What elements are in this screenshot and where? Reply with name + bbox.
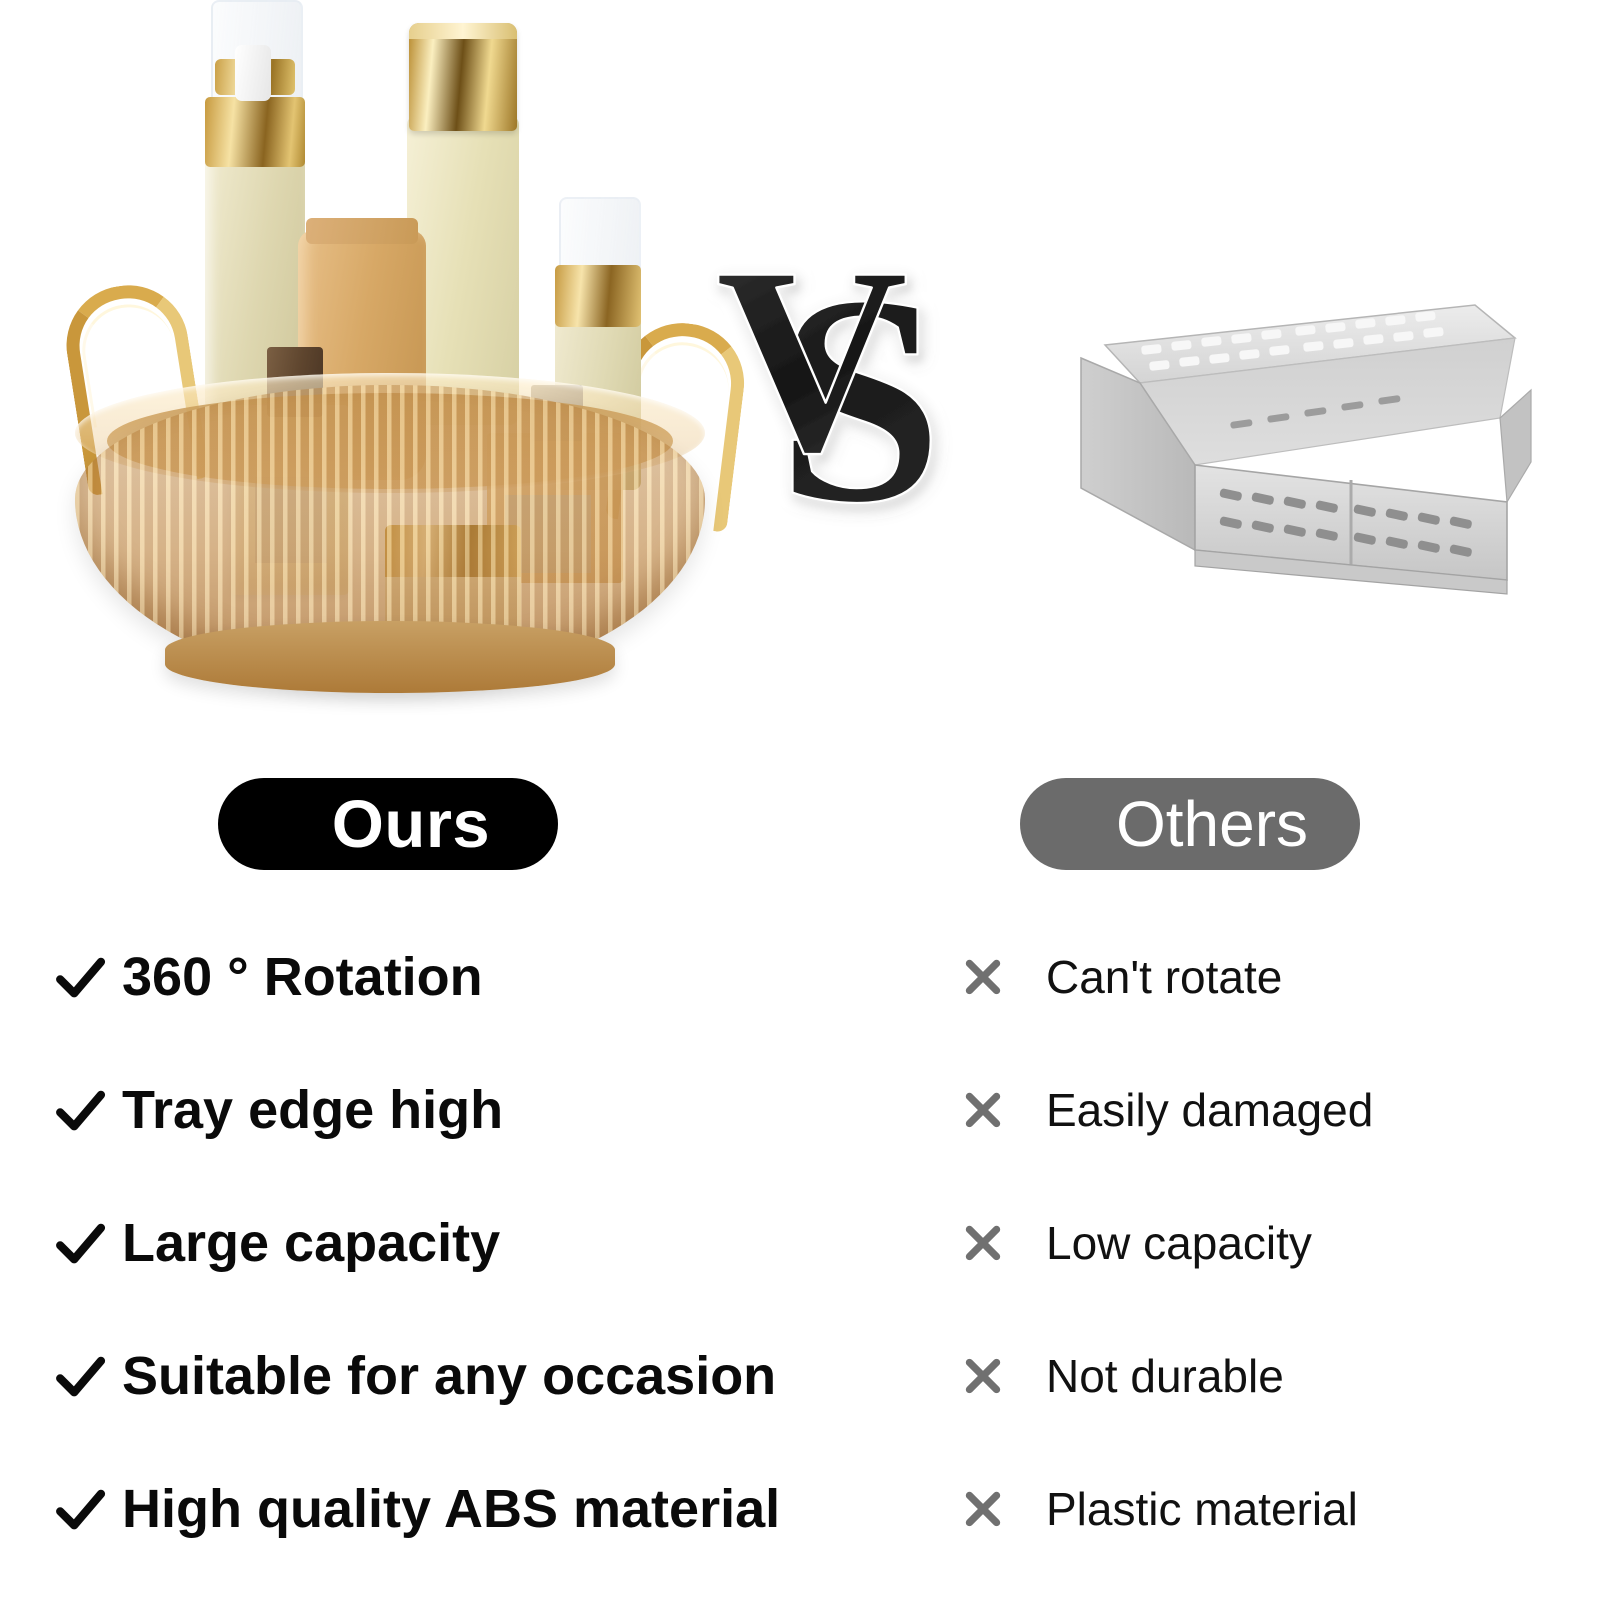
feature-label: 360 ° Rotation bbox=[122, 946, 483, 1008]
drawback-label: Low capacity bbox=[1046, 1216, 1312, 1270]
check-icon bbox=[52, 1481, 108, 1537]
svg-text:V: V bbox=[715, 218, 909, 508]
cross-icon bbox=[958, 1085, 1008, 1135]
feature-list-ours: 360 ° Rotation Tray edge high Large capa… bbox=[0, 910, 900, 1575]
cross-icon bbox=[958, 1351, 1008, 1401]
list-item: 360 ° Rotation bbox=[0, 910, 900, 1043]
white-pump-icon bbox=[235, 45, 271, 101]
versus-badge: S V bbox=[700, 218, 1000, 548]
feature-label: Large capacity bbox=[122, 1212, 500, 1274]
badge-others-label: Others bbox=[1116, 787, 1308, 861]
comparison-section: Ours Others 360 ° Rotation bbox=[0, 760, 1601, 1601]
cross-icon bbox=[958, 1218, 1008, 1268]
feature-label: High quality ABS material bbox=[122, 1478, 780, 1540]
product-image-others bbox=[1045, 250, 1545, 610]
cross-icon bbox=[958, 1484, 1008, 1534]
list-item: Easily damaged bbox=[930, 1043, 1590, 1176]
feature-label: Tray edge high bbox=[122, 1079, 503, 1141]
cross-icon bbox=[958, 952, 1008, 1002]
check-icon bbox=[52, 949, 108, 1005]
gold-cap-icon bbox=[409, 23, 517, 131]
list-item: Tray edge high bbox=[0, 1043, 900, 1176]
list-item: Plastic material bbox=[930, 1442, 1590, 1575]
feature-list-others: Can't rotate Easily damaged Low capacity bbox=[930, 910, 1590, 1575]
check-icon bbox=[52, 1215, 108, 1271]
list-item: Not durable bbox=[930, 1309, 1590, 1442]
check-icon bbox=[52, 1082, 108, 1138]
list-item: Low capacity bbox=[930, 1176, 1590, 1309]
feature-label: Suitable for any occasion bbox=[122, 1345, 776, 1407]
gold-collar-icon bbox=[205, 97, 305, 167]
list-item: Large capacity bbox=[0, 1176, 900, 1309]
list-item: High quality ABS material bbox=[0, 1442, 900, 1575]
gold-collar-small-icon bbox=[555, 265, 641, 327]
drawback-label: Plastic material bbox=[1046, 1482, 1358, 1536]
tray-base bbox=[165, 621, 615, 693]
check-icon bbox=[52, 1348, 108, 1404]
drawback-label: Can't rotate bbox=[1046, 950, 1282, 1004]
product-image-ours bbox=[55, 55, 725, 685]
list-item: Can't rotate bbox=[930, 910, 1590, 1043]
hero-images: S V bbox=[0, 0, 1601, 760]
drawback-label: Easily damaged bbox=[1046, 1083, 1373, 1137]
infographic-root: S V bbox=[0, 0, 1601, 1601]
drawback-label: Not durable bbox=[1046, 1349, 1284, 1403]
badge-others: Others bbox=[1020, 778, 1360, 870]
list-item: Suitable for any occasion bbox=[0, 1309, 900, 1442]
badge-ours: Ours bbox=[218, 778, 558, 870]
badge-ours-label: Ours bbox=[332, 786, 490, 863]
